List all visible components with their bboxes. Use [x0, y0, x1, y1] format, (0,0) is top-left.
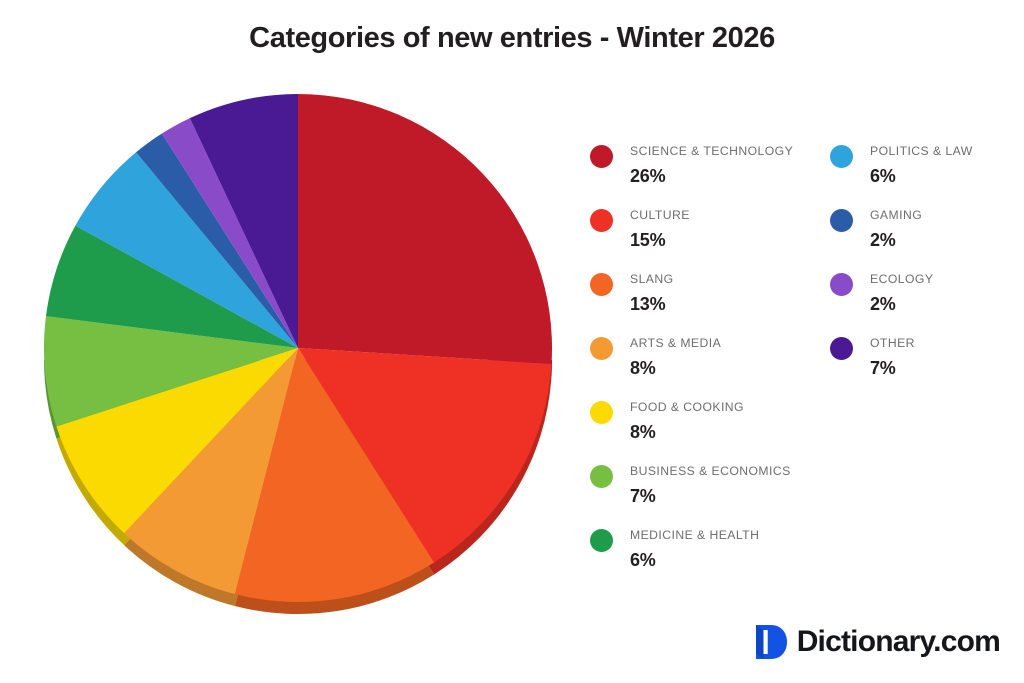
legend-item[interactable]: GAMING2%: [830, 206, 1010, 270]
legend-item-value: 13%: [630, 295, 674, 313]
legend-item-label: BUSINESS & ECONOMICS: [630, 465, 791, 477]
pie-chart: [42, 92, 554, 617]
legend-item[interactable]: POLITICS & LAW6%: [830, 142, 1010, 206]
legend-item-label: MEDICINE & HEALTH: [630, 529, 759, 541]
legend-item[interactable]: SLANG13%: [590, 270, 830, 334]
legend-item-value: 7%: [870, 359, 915, 377]
legend-item[interactable]: MEDICINE & HEALTH6%: [590, 526, 830, 590]
legend-text-group: GAMING2%: [870, 206, 922, 249]
legend-item-label: SLANG: [630, 273, 674, 285]
legend-item-label: OTHER: [870, 337, 915, 349]
brand-logo[interactable]: Dictionary.com: [754, 623, 1000, 661]
legend-item-label: SCIENCE & TECHNOLOGY: [630, 145, 793, 157]
legend-color-swatch: [590, 401, 613, 424]
pie-slice-group: [44, 94, 552, 602]
legend-color-swatch: [830, 337, 853, 360]
legend-item[interactable]: CULTURE15%: [590, 206, 830, 270]
legend-item[interactable]: OTHER7%: [830, 334, 1010, 398]
legend-item-value: 2%: [870, 231, 922, 249]
legend-color-swatch: [590, 145, 613, 168]
legend-text-group: SLANG13%: [630, 270, 674, 313]
legend-item-value: 15%: [630, 231, 690, 249]
legend-item-label: CULTURE: [630, 209, 690, 221]
legend-color-swatch: [590, 529, 613, 552]
legend-item[interactable]: BUSINESS & ECONOMICS7%: [590, 462, 830, 526]
legend-item-value: 7%: [630, 487, 791, 505]
dictionary-book-d-icon: [754, 623, 788, 661]
legend-column-right: POLITICS & LAW6%GAMING2%ECOLOGY2%OTHER7%: [830, 142, 1010, 590]
chart-legend: SCIENCE & TECHNOLOGY26%CULTURE15%SLANG13…: [590, 142, 1010, 590]
legend-color-swatch: [590, 337, 613, 360]
legend-column-left: SCIENCE & TECHNOLOGY26%CULTURE15%SLANG13…: [590, 142, 830, 590]
legend-item-value: 26%: [630, 167, 793, 185]
legend-item-label: ECOLOGY: [870, 273, 933, 285]
legend-item[interactable]: ECOLOGY2%: [830, 270, 1010, 334]
legend-item-value: 6%: [870, 167, 973, 185]
pie-chart-svg: [42, 92, 554, 617]
legend-item-value: 2%: [870, 295, 933, 313]
pie-slice[interactable]: [298, 94, 552, 364]
legend-item-value: 6%: [630, 551, 759, 569]
legend-color-swatch: [590, 273, 613, 296]
legend-text-group: BUSINESS & ECONOMICS7%: [630, 462, 791, 505]
legend-item-label: FOOD & COOKING: [630, 401, 744, 413]
legend-item-label: GAMING: [870, 209, 922, 221]
legend-text-group: CULTURE15%: [630, 206, 690, 249]
legend-item[interactable]: SCIENCE & TECHNOLOGY26%: [590, 142, 830, 206]
legend-color-swatch: [590, 465, 613, 488]
legend-color-swatch: [830, 145, 853, 168]
legend-text-group: FOOD & COOKING8%: [630, 398, 744, 441]
legend-item[interactable]: ARTS & MEDIA8%: [590, 334, 830, 398]
legend-text-group: SCIENCE & TECHNOLOGY26%: [630, 142, 793, 185]
legend-text-group: MEDICINE & HEALTH6%: [630, 526, 759, 569]
legend-color-swatch: [830, 209, 853, 232]
page-title: Categories of new entries - Winter 2026: [0, 22, 1024, 55]
legend-color-swatch: [830, 273, 853, 296]
legend-text-group: ECOLOGY2%: [870, 270, 933, 313]
brand-name: Dictionary.com: [797, 625, 1000, 659]
legend-text-group: ARTS & MEDIA8%: [630, 334, 721, 377]
legend-color-swatch: [590, 209, 613, 232]
legend-item-label: POLITICS & LAW: [870, 145, 973, 157]
legend-item-value: 8%: [630, 423, 744, 441]
legend-item-value: 8%: [630, 359, 721, 377]
legend-item[interactable]: FOOD & COOKING8%: [590, 398, 830, 462]
legend-item-label: ARTS & MEDIA: [630, 337, 721, 349]
legend-text-group: POLITICS & LAW6%: [870, 142, 973, 185]
legend-text-group: OTHER7%: [870, 334, 915, 377]
